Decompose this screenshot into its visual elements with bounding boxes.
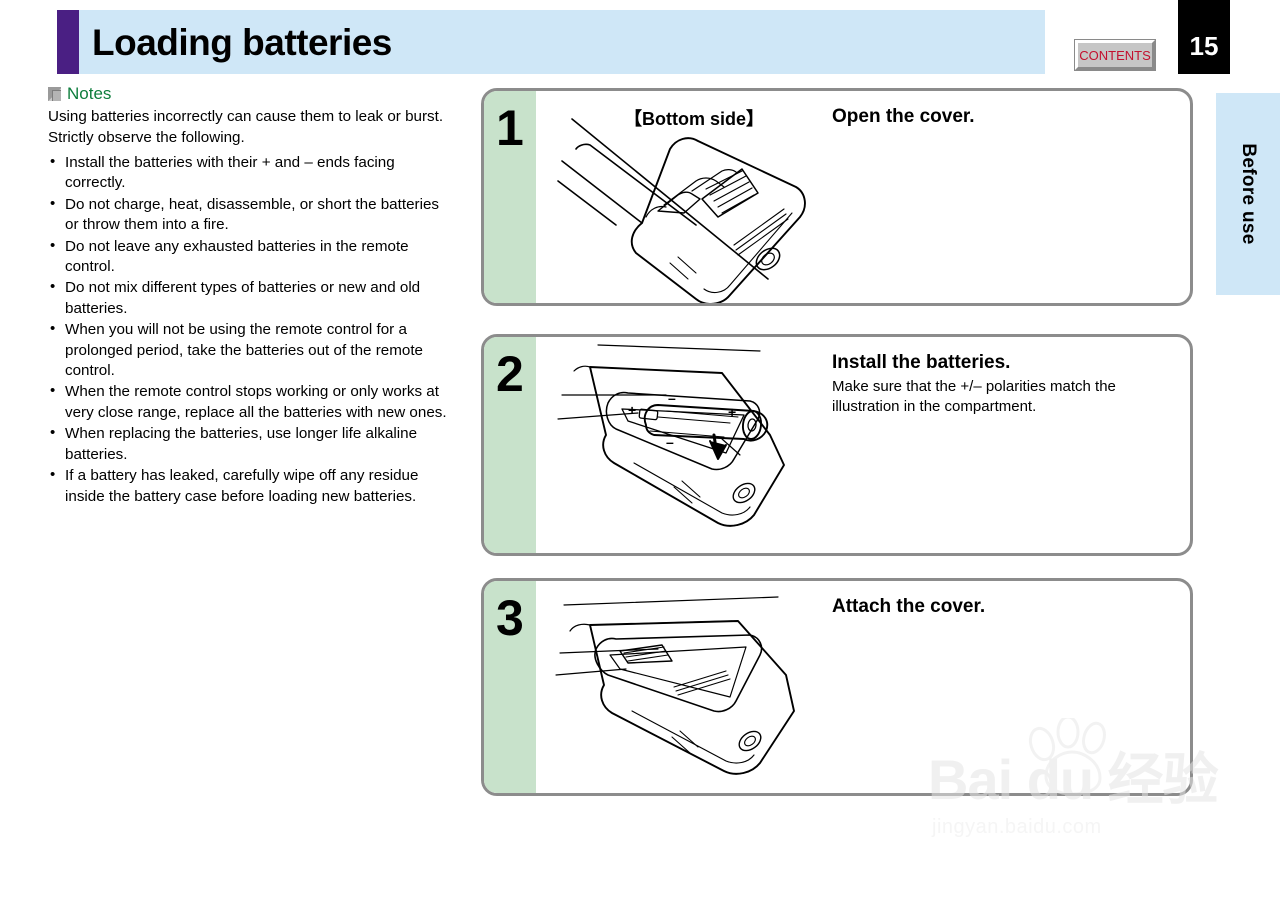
list-item: If a battery has leaked, carefully wipe …: [48, 466, 448, 507]
remote-control-battery-compartment-open-illustration: + – – +: [554, 343, 844, 554]
step-panel-2: 2: [481, 334, 1193, 556]
remote-control-bottom-closed-cover-illustration: [546, 113, 836, 306]
step-number: 2: [496, 349, 524, 399]
step-title: Open the cover.: [832, 105, 975, 129]
step-title: Attach the cover.: [832, 595, 985, 619]
list-item: When replacing the batteries, use longer…: [48, 424, 448, 465]
step-title: Install the batteries.: [832, 351, 1010, 375]
battery-mark-plus-left: +: [628, 402, 636, 418]
contents-button-label: CONTENTS: [1079, 48, 1151, 63]
list-item: Do not mix different types of batteries …: [48, 278, 448, 319]
page-title: Loading batteries: [92, 20, 392, 66]
step-panel-1: 1 【Bottom side】: [481, 88, 1193, 306]
title-accent-bar: [57, 10, 79, 74]
watermark-subtext: jingyan.baidu.com: [932, 816, 1102, 839]
notes-label: Notes: [67, 84, 111, 104]
step-number: 1: [496, 103, 524, 153]
notes-list: Install the batteries with their + and –…: [48, 153, 448, 507]
contents-button[interactable]: CONTENTS: [1075, 40, 1155, 70]
list-item: Do not leave any exhausted batteries in …: [48, 237, 448, 278]
section-tab-label: Before use: [1237, 143, 1259, 244]
list-item: When the remote control stops working or…: [48, 382, 448, 423]
step-body: Make sure that the +/– polarities match …: [832, 377, 1184, 417]
page-number: 15: [1190, 31, 1219, 62]
list-item: Install the batteries with their + and –…: [48, 153, 448, 194]
notes-section: Notes Using batteries incorrectly can ca…: [48, 84, 448, 508]
section-tab-before-use[interactable]: Before use: [1216, 93, 1280, 295]
note-square-icon: [48, 87, 61, 101]
battery-mark-minus-top: –: [668, 390, 676, 406]
list-item: Do not charge, heat, disassemble, or sho…: [48, 195, 448, 236]
battery-mark-plus-right: +: [728, 404, 736, 420]
notes-intro-text: Using batteries incorrectly can cause th…: [48, 106, 448, 148]
page-header: Loading batteries CONTENTS 15: [0, 0, 1280, 78]
step-number: 3: [496, 593, 524, 643]
step-panel-3: 3: [481, 578, 1193, 796]
battery-mark-minus-bottom: –: [666, 434, 674, 450]
notes-heading: Notes: [48, 84, 448, 104]
list-item: When you will not be using the remote co…: [48, 320, 448, 381]
remote-control-cover-attached-illustration: [554, 591, 844, 796]
page-number-badge: 15: [1178, 0, 1230, 74]
